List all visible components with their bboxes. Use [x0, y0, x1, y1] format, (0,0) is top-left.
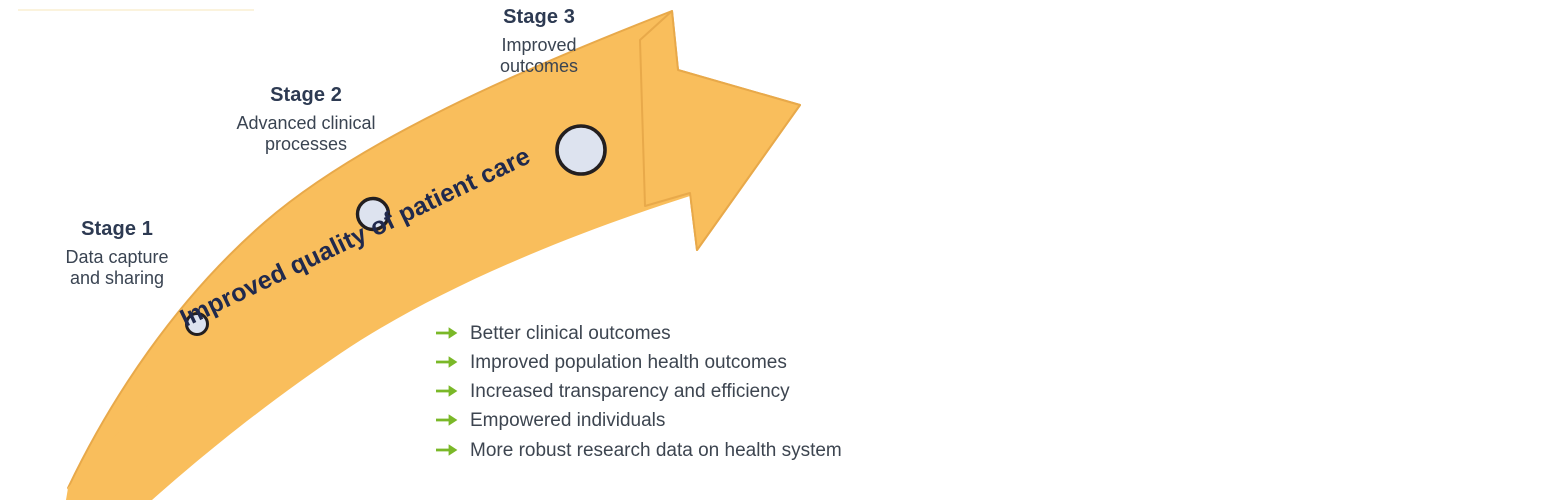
- stage-3-description-line-1: Improved: [440, 35, 638, 56]
- stage-2-description-line-2: processes: [203, 134, 409, 155]
- stage-2-description: Advanced clinical processes: [203, 113, 409, 155]
- arrow-right-icon: [436, 407, 458, 427]
- benefit-label: Better clinical outcomes: [470, 320, 671, 347]
- benefit-label: Increased transparency and efficiency: [470, 378, 790, 405]
- benefit-item: Empowered individuals: [436, 407, 906, 434]
- arrow-right-icon: [436, 378, 458, 398]
- benefit-item: Improved population health outcomes: [436, 349, 906, 376]
- stage-block-3: Stage 3 Improved outcomes: [440, 6, 638, 77]
- stage-3-description-line-2: outcomes: [440, 56, 638, 77]
- arrow-right-icon: [436, 437, 458, 457]
- stage-3-description: Improved outcomes: [440, 35, 638, 77]
- benefit-label: More robust research data on health syst…: [470, 437, 842, 464]
- stage-3-title: Stage 3: [440, 6, 638, 30]
- stage-1-description-line-2: and sharing: [22, 268, 212, 289]
- benefit-label: Improved population health outcomes: [470, 349, 787, 376]
- stage-1-title: Stage 1: [22, 218, 212, 242]
- stage-1-description: Data capture and sharing: [22, 247, 212, 289]
- stage-block-1: Stage 1 Data capture and sharing: [22, 218, 212, 289]
- benefits-list: Better clinical outcomes Improved popula…: [436, 320, 906, 466]
- benefit-item: Better clinical outcomes: [436, 320, 906, 347]
- benefit-item: Increased transparency and efficiency: [436, 378, 906, 405]
- diagram-canvas: Stage 1 Data capture and sharing Stage 2…: [0, 0, 1564, 500]
- stage-block-2: Stage 2 Advanced clinical processes: [203, 84, 409, 155]
- arrow-right-icon: [436, 349, 458, 369]
- stage-2-title: Stage 2: [203, 84, 409, 108]
- arrow-right-icon: [436, 320, 458, 340]
- benefit-label: Empowered individuals: [470, 407, 665, 434]
- stage-2-description-line-1: Advanced clinical: [203, 113, 409, 134]
- stage-1-description-line-1: Data capture: [22, 247, 212, 268]
- stage-3-marker: [557, 126, 605, 174]
- benefit-item: More robust research data on health syst…: [436, 437, 906, 464]
